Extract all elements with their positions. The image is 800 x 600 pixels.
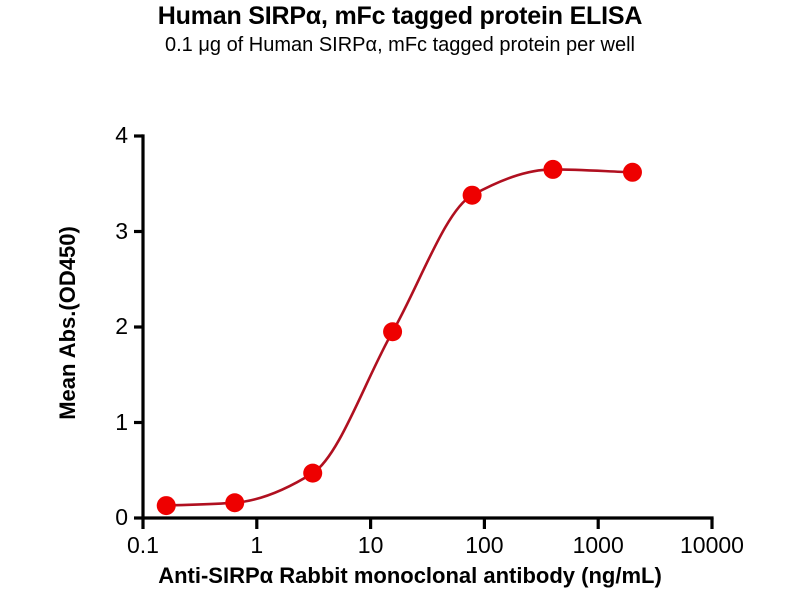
x-tick-label: 0.1	[83, 534, 203, 557]
x-tick-label: 10	[311, 534, 431, 557]
data-point-marker	[463, 186, 482, 205]
x-tick-label: 100	[424, 534, 544, 557]
y-tick-label: 3	[82, 220, 128, 243]
y-tick-label: 2	[82, 315, 128, 338]
y-tick-label: 4	[82, 124, 128, 147]
data-point-marker	[225, 493, 244, 512]
data-points	[157, 160, 642, 515]
y-tick-label: 0	[82, 506, 128, 529]
axes	[134, 136, 712, 529]
data-point-marker	[543, 160, 562, 179]
data-point-marker	[303, 464, 322, 483]
data-point-marker	[157, 496, 176, 515]
y-tick-label: 1	[82, 411, 128, 434]
x-tick-label: 10000	[652, 534, 772, 557]
chart-page: Human SIRPα, mFc tagged protein ELISA 0.…	[0, 0, 800, 600]
data-point-marker	[383, 322, 402, 341]
data-point-marker	[623, 163, 642, 182]
x-tick-label: 1000	[538, 534, 658, 557]
x-tick-label: 1	[197, 534, 317, 557]
